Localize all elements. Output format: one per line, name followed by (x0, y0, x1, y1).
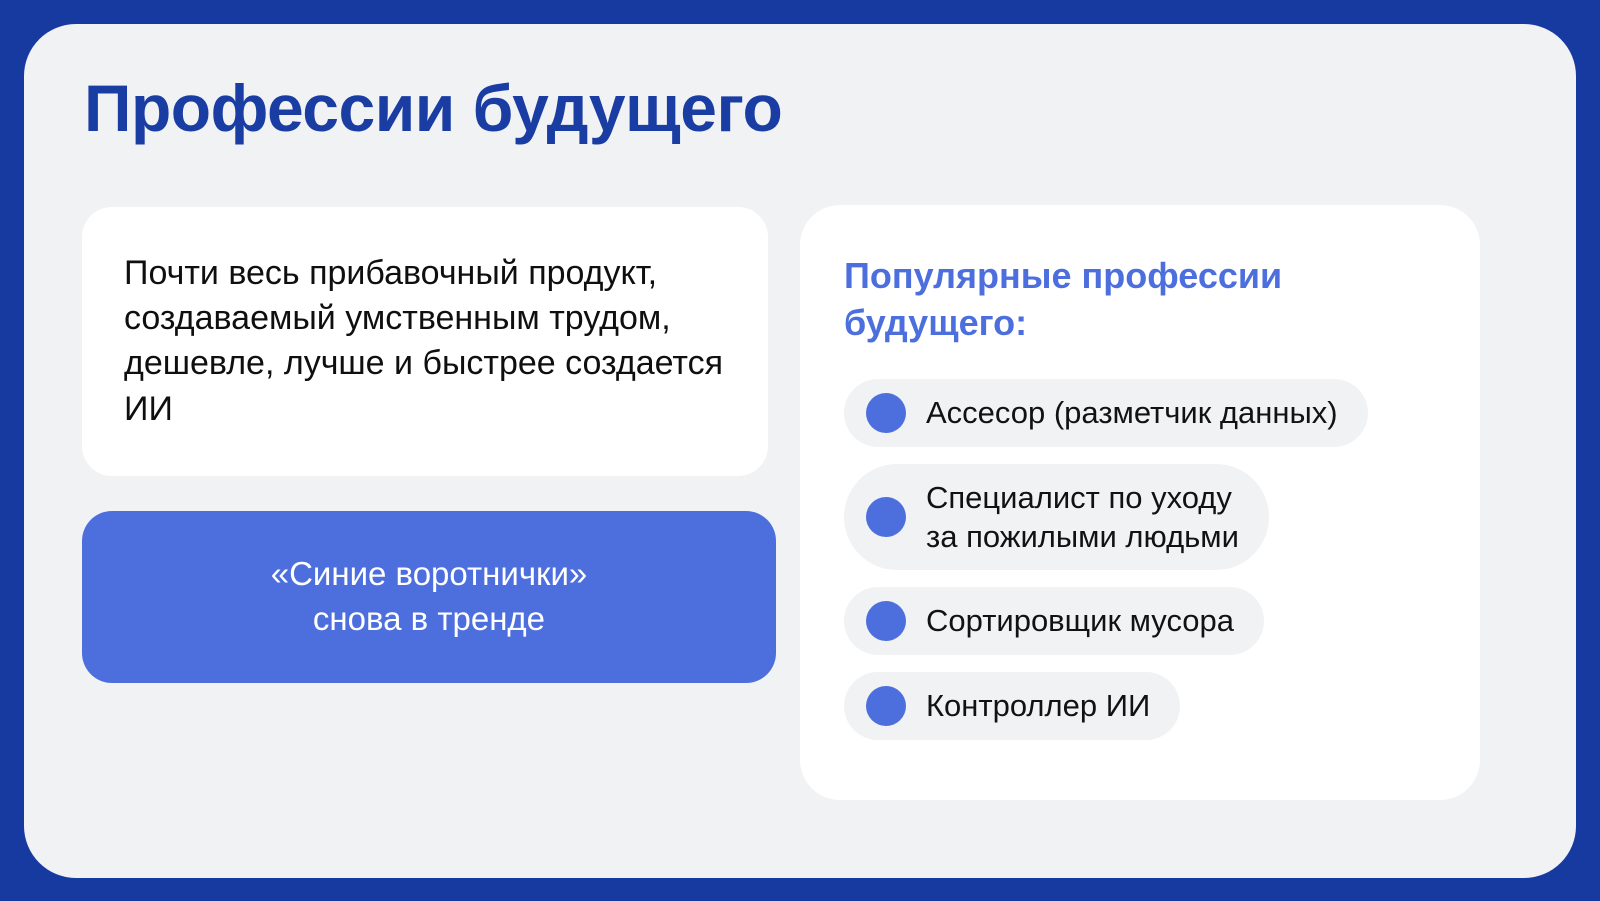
page-title: Профессии будущего (84, 74, 782, 143)
list-item-label: Контроллер ИИ (926, 686, 1150, 725)
blue-collars-button[interactable]: «Синие воротнички» снова в тренде (82, 511, 776, 683)
list-item-label: Специалист по уходу за пожилыми людьми (926, 478, 1239, 556)
popular-professions-heading: Популярные профессии будущего: (844, 253, 1444, 347)
bullet-dot-icon (866, 601, 906, 641)
blue-collars-button-label: «Синие воротнички» снова в тренде (271, 552, 587, 641)
list-item-label: Сортировщик мусора (926, 601, 1234, 640)
popular-professions-card: Популярные профессии будущего: Ассесор (… (800, 205, 1480, 800)
bullet-dot-icon (866, 686, 906, 726)
outer-blue-frame: Профессии будущего Почти весь прибавочны… (0, 0, 1600, 901)
content-panel: Профессии будущего Почти весь прибавочны… (24, 24, 1576, 878)
list-item[interactable]: Сортировщик мусора (844, 587, 1264, 655)
list-item-label: Ассесор (разметчик данных) (926, 393, 1338, 432)
list-item[interactable]: Контроллер ИИ (844, 672, 1180, 740)
quote-card: Почти весь прибавочный продукт, создавае… (82, 207, 768, 476)
left-column: Почти весь прибавочный продукт, создавае… (82, 207, 778, 683)
profession-list: Ассесор (разметчик данных) Специалист по… (844, 379, 1444, 740)
list-item[interactable]: Ассесор (разметчик данных) (844, 379, 1368, 447)
bullet-dot-icon (866, 497, 906, 537)
list-item[interactable]: Специалист по уходу за пожилыми людьми (844, 464, 1269, 570)
bullet-dot-icon (866, 393, 906, 433)
quote-text: Почти весь прибавочный продукт, создавае… (124, 251, 728, 432)
